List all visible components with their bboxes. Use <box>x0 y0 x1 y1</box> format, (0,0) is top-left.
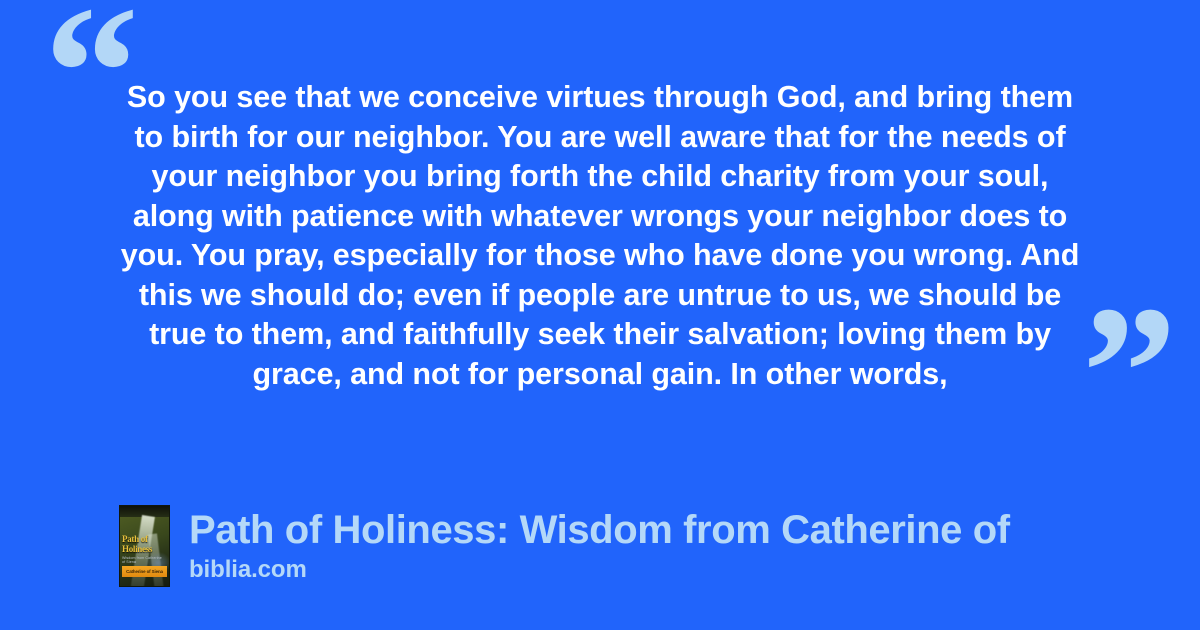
cover-author-text: Catherine of Siena <box>126 569 163 574</box>
footer: Path of Holiness Wisdom from Catherine o… <box>119 505 1010 587</box>
book-title[interactable]: Path of Holiness: Wisdom from Catherine … <box>189 507 1010 553</box>
site-name[interactable]: biblia.com <box>189 555 1010 585</box>
book-cover-thumbnail[interactable]: Path of Holiness Wisdom from Catherine o… <box>119 505 170 587</box>
quote-card: “ So you see that we conceive virtues th… <box>0 0 1200 630</box>
footer-text-block: Path of Holiness: Wisdom from Catherine … <box>189 505 1010 585</box>
close-quote-icon: ” <box>1082 278 1173 468</box>
cover-subtitle: Wisdom from Catherine of Siena <box>122 556 166 565</box>
quote-text: So you see that we conceive virtues thro… <box>118 78 1082 394</box>
cover-author-band: Catherine of Siena <box>122 566 167 577</box>
cover-title: Path of Holiness <box>122 534 162 554</box>
